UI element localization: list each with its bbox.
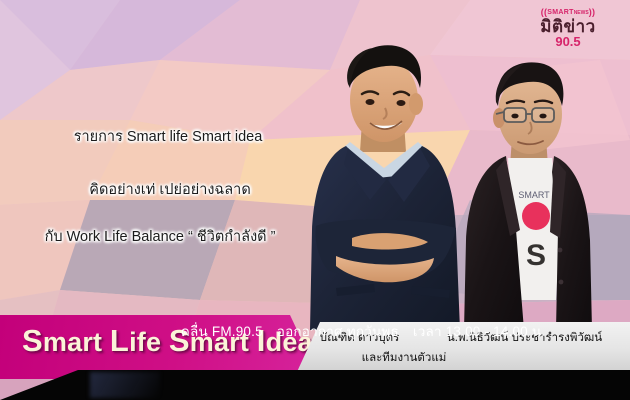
schedule-airing: ออกอากาศ ทุกวันพุธ <box>277 324 399 339</box>
svg-text:SMART: SMART <box>518 190 550 200</box>
promo-banner: ((SMARTNEWS)) มิติข่าว 90.5 <box>0 0 630 400</box>
schedule-time: เวลา 13.00 - 14.00 น. <box>413 324 545 339</box>
schedule-station: คลื่น FM.90.5 <box>181 324 263 339</box>
schedule-text: คลื่น FM.90.5 ออกอากาศ ทุกวันพุธ เวลา 13… <box>0 320 630 342</box>
logo-paren-right: )) <box>589 7 596 17</box>
schedule-bar <box>0 370 630 400</box>
host-photo-right: S SMART <box>460 50 610 330</box>
svg-text:S: S <box>526 239 546 272</box>
headline-copy: รายการ Smart life Smart idea คิดอย่างเท่… <box>0 125 330 248</box>
copy-line-1: รายการ Smart life Smart idea <box>6 125 330 148</box>
copy-line-2: คิดอย่างเท่ เปย่อย่างฉลาด <box>10 178 330 201</box>
station-frequency: 90.5 <box>520 35 616 48</box>
station-name-thai: มิติข่าว <box>520 18 616 35</box>
station-logo: ((SMARTNEWS)) มิติข่าว 90.5 <box>520 8 616 48</box>
bottom-banner: Smart Life Smart Idea บัณฑิต ดาวบุตร น.พ… <box>0 315 630 400</box>
host-team-label: และทีมงานตัวแม่ <box>296 349 630 367</box>
smart-news-wordmark: ((SMARTNEWS)) <box>520 8 616 17</box>
logo-brand-main: SMART <box>547 9 573 16</box>
copy-line-3: กับ Work Life Balance “ ชีวิตกำลังดี ” <box>0 225 330 248</box>
logo-brand-sub: NEWS <box>574 10 589 16</box>
